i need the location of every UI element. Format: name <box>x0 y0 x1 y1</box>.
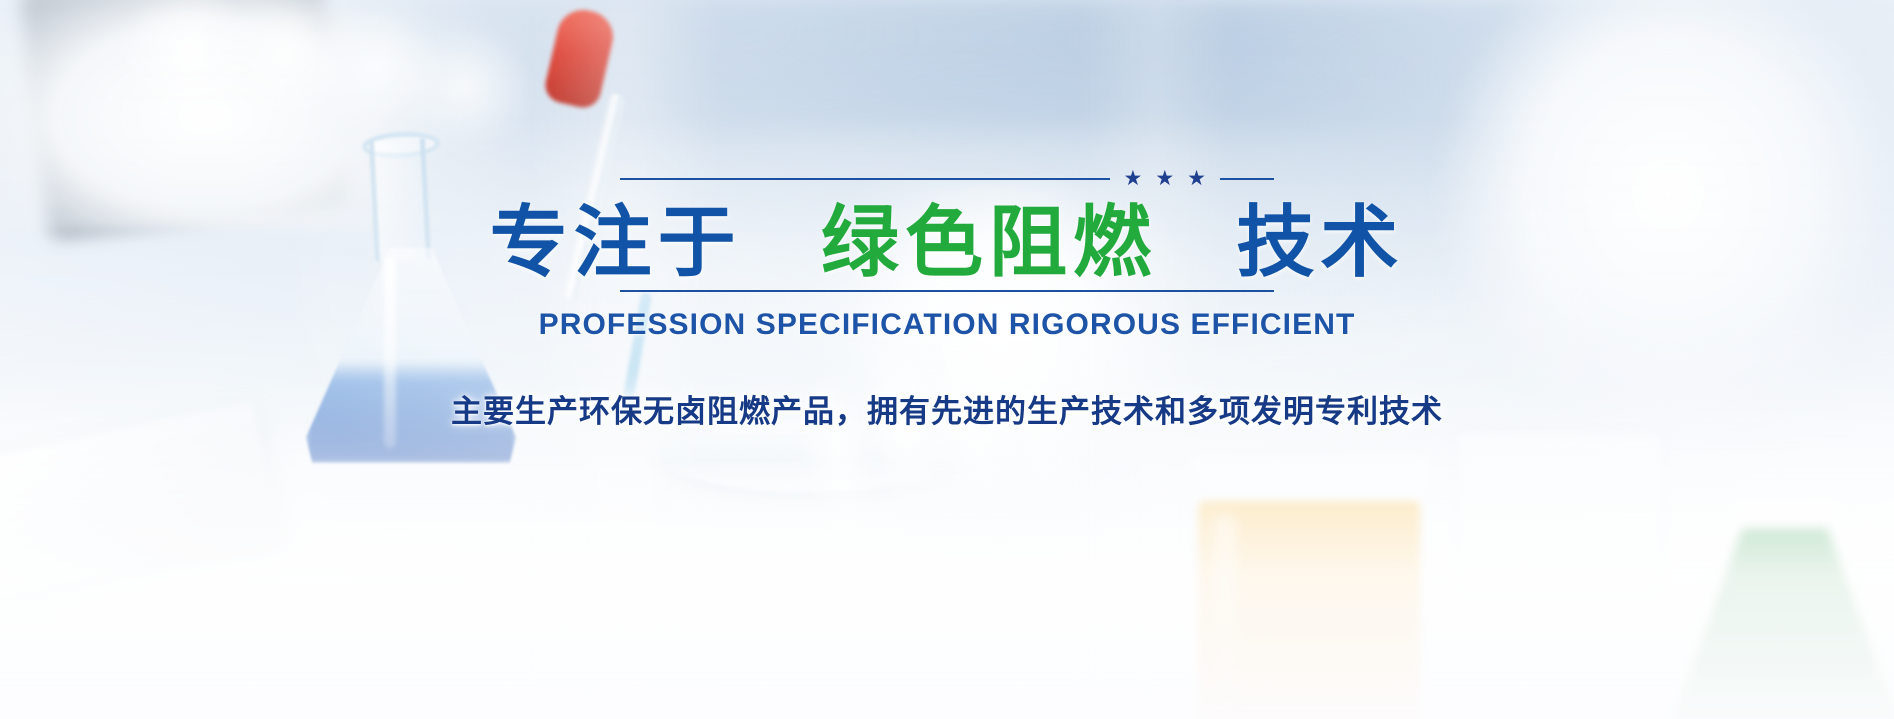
subtitle: PROFESSION SPECIFICATION RIGOROUS EFFICI… <box>0 308 1894 342</box>
star-icon: ★ <box>1155 168 1174 189</box>
description-text: 主要生产环保无卤阻燃产品，拥有先进的生产技术和多项发明专利技术 <box>0 386 1894 431</box>
star-icon: ★ <box>1187 168 1206 189</box>
headline-part-3: 技术 <box>1236 198 1404 286</box>
headline: 专注于 绿色阻燃 技术 <box>0 199 1894 286</box>
headline-part-2: 绿色阻燃 <box>821 198 1157 286</box>
top-divider: ★ ★ ★ <box>620 168 1274 189</box>
divider-line-left <box>620 178 1110 180</box>
star-icon: ★ <box>1124 168 1143 189</box>
banner-content: ★ ★ ★ 专注于 绿色阻燃 技术 PROFESSION SPECIFICATI… <box>0 168 1894 431</box>
divider-line-right <box>1220 178 1274 180</box>
headline-part-1: 专注于 <box>490 198 742 286</box>
hero-banner: ★ ★ ★ 专注于 绿色阻燃 技术 PROFESSION SPECIFICATI… <box>0 0 1894 719</box>
star-group: ★ ★ ★ <box>1124 168 1206 189</box>
bottom-divider <box>620 290 1274 292</box>
